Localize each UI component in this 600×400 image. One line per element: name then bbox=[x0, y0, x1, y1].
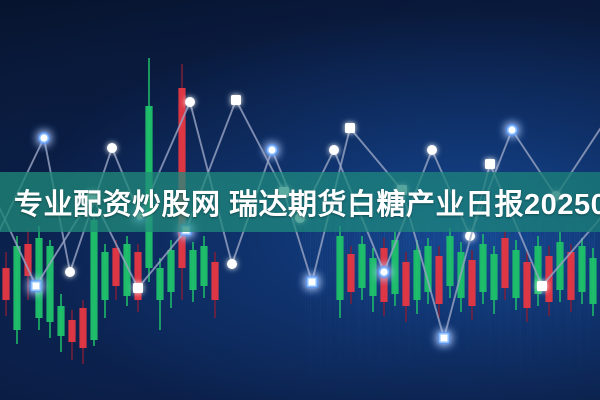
banner-image: 专业配资炒股网 瑞达期货白糖产业日报20250916 bbox=[0, 0, 600, 400]
title-overlay-band: 专业配资炒股网 瑞达期货白糖产业日报20250916 bbox=[0, 172, 600, 232]
page-title: 专业配资炒股网 瑞达期货白糖产业日报20250916 bbox=[0, 181, 600, 223]
